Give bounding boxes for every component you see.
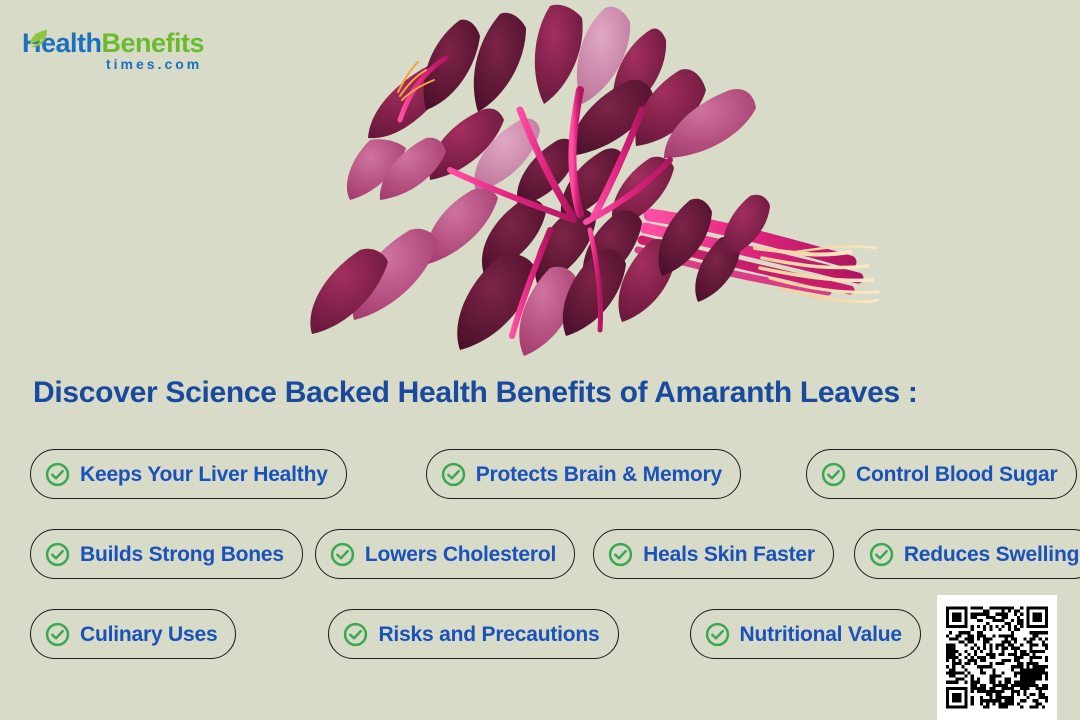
plant-leaves [310, 5, 770, 356]
benefit-label: Heals Skin Faster [643, 544, 815, 565]
benefit-pill-risks-and-precautions[interactable]: Risks and Precautions [328, 609, 618, 659]
check-circle-icon [821, 462, 846, 487]
benefit-pill-protects-brain-and-memory[interactable]: Protects Brain & Memory [426, 449, 741, 499]
benefits-row-2: Builds Strong Bones Lowers Cholesterol H… [0, 529, 1080, 579]
check-circle-icon [45, 462, 70, 487]
page-title: Discover Science Backed Health Benefits … [33, 376, 918, 410]
benefit-pill-builds-strong-bones[interactable]: Builds Strong Bones [30, 529, 303, 579]
site-logo[interactable]: HealthBenefits times.com [22, 28, 252, 80]
check-circle-icon [608, 542, 633, 567]
benefit-label: Protects Brain & Memory [476, 464, 722, 485]
check-circle-icon [441, 462, 466, 487]
benefit-label: Builds Strong Bones [80, 544, 284, 565]
qr-code[interactable] [937, 595, 1057, 720]
benefit-pill-reduces-swelling[interactable]: Reduces Swelling [854, 529, 1080, 579]
benefit-label: Risks and Precautions [378, 624, 599, 645]
benefit-pill-control-blood-sugar[interactable]: Control Blood Sugar [806, 449, 1077, 499]
check-circle-icon [869, 542, 894, 567]
check-circle-icon [45, 542, 70, 567]
benefit-label: Keeps Your Liver Healthy [80, 464, 328, 485]
benefit-pill-lowers-cholesterol[interactable]: Lowers Cholesterol [315, 529, 575, 579]
benefits-row-1: Keeps Your Liver Healthy Protects Brain … [0, 449, 1080, 499]
benefit-label: Reduces Swelling [904, 544, 1079, 565]
benefit-label: Lowers Cholesterol [365, 544, 556, 565]
benefit-pill-nutritional-value[interactable]: Nutritional Value [690, 609, 921, 659]
logo-domain-text: times.com [106, 56, 202, 72]
benefit-label: Control Blood Sugar [856, 464, 1058, 485]
benefit-pill-heals-skin-faster[interactable]: Heals Skin Faster [593, 529, 834, 579]
benefits-row-3: Culinary Uses Risks and Precautions Nutr… [0, 609, 1080, 659]
infographic-canvas: HealthBenefits times.com [0, 0, 1080, 720]
benefit-label: Culinary Uses [80, 624, 217, 645]
check-circle-icon [45, 622, 70, 647]
benefit-label: Nutritional Value [740, 624, 902, 645]
check-circle-icon [330, 542, 355, 567]
benefit-pill-keeps-your-liver-healthy[interactable]: Keeps Your Liver Healthy [30, 449, 347, 499]
amaranth-leaves-photo [250, 0, 930, 370]
logo-wordmark: HealthBenefits [22, 28, 204, 59]
check-circle-icon [705, 622, 730, 647]
benefit-pill-culinary-uses[interactable]: Culinary Uses [30, 609, 236, 659]
logo-health-text: Health [22, 28, 102, 58]
check-circle-icon [343, 622, 368, 647]
logo-benefits-text: Benefits [102, 28, 205, 58]
